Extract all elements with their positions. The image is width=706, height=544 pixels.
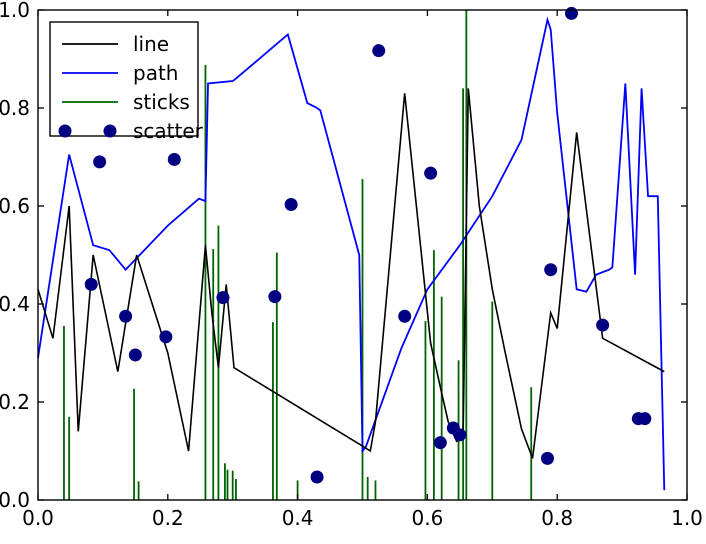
scatter-point xyxy=(434,436,447,449)
x-tick-label: 0.6 xyxy=(411,506,443,530)
legend-entry-label: sticks xyxy=(133,90,190,114)
legend-entry-label: scatter xyxy=(133,119,204,143)
scatter-point xyxy=(119,310,132,323)
figure-canvas: 0.00.20.40.60.81.0 0.00.20.40.60.81.0 li… xyxy=(0,0,706,544)
y-tick-label: 1.0 xyxy=(0,0,30,22)
scatter-point xyxy=(638,412,651,425)
scatter-point xyxy=(541,452,554,465)
chart-figure: 0.00.20.40.60.81.0 0.00.20.40.60.81.0 li… xyxy=(0,0,706,544)
scatter-point xyxy=(453,428,466,441)
scatter-point xyxy=(596,319,609,332)
y-tick-label: 0.4 xyxy=(0,292,30,316)
scatter-point xyxy=(129,348,142,361)
scatter-point xyxy=(311,470,324,483)
scatter-point xyxy=(159,330,172,343)
scatter-point xyxy=(398,310,411,323)
y-tick-label: 0.0 xyxy=(0,488,30,512)
scatter-point xyxy=(216,291,229,304)
scatter-point xyxy=(424,167,437,180)
scatter-point xyxy=(85,278,98,291)
scatter-point xyxy=(93,155,106,168)
legend[interactable]: linepathsticksscatter xyxy=(50,22,204,143)
legend-marker-icon xyxy=(104,125,117,138)
scatter-point xyxy=(544,263,557,276)
scatter-point xyxy=(285,198,298,211)
x-tick-label: 0.4 xyxy=(282,506,314,530)
scatter-point xyxy=(168,153,181,166)
y-tick-label: 0.6 xyxy=(0,194,30,218)
legend-marker-icon xyxy=(59,125,72,138)
legend-entry-label: line xyxy=(133,32,169,56)
x-tick-label: 0.2 xyxy=(152,506,184,530)
scatter-point xyxy=(565,7,578,20)
y-tick-label: 0.8 xyxy=(0,96,30,120)
scatter-point xyxy=(268,290,281,303)
legend-entry-label: path xyxy=(133,61,178,85)
x-tick-label: 1.0 xyxy=(671,506,703,530)
scatter-point xyxy=(372,44,385,57)
y-tick-label: 0.2 xyxy=(0,390,30,414)
x-tick-label: 0.8 xyxy=(541,506,573,530)
